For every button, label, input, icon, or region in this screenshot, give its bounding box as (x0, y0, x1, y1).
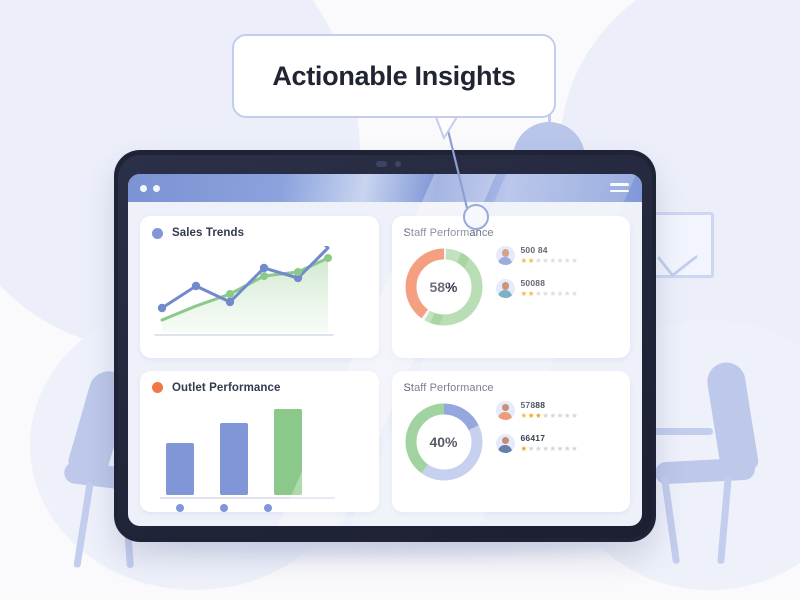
framed-picture-icon (652, 212, 714, 278)
chart-baseline (154, 334, 334, 336)
list-item[interactable]: 57888 ★★★★ ★★★★ (496, 401, 626, 420)
legend-dot-icon (152, 228, 163, 239)
avatar (496, 401, 515, 420)
bar-3 (274, 409, 302, 495)
list-item[interactable]: 66417 ★★★★ ★★★★ (496, 434, 626, 453)
rating-stars: ★★★★ ★★★★ (521, 290, 578, 298)
axis-dot-1 (176, 504, 184, 512)
legend-dot-icon (152, 382, 163, 393)
card-title: Staff Performance (404, 382, 494, 394)
avatar (496, 279, 515, 298)
card-header: Sales Trends (152, 227, 367, 239)
staff-list-top: 500 84 ★★★★ ★★★★ (496, 246, 626, 312)
card-header: Staff Performance (404, 227, 619, 239)
axis-dot-2 (220, 504, 228, 512)
card-title: Outlet Performance (172, 382, 281, 394)
avatar (496, 434, 515, 453)
callout-text: Actionable Insights (272, 61, 515, 92)
staff-list-bottom: 57888 ★★★★ ★★★★ (496, 401, 626, 467)
staff-name: 500 84 (521, 246, 578, 255)
card-staff-performance-bottom[interactable]: Staff Performance 40% (392, 371, 631, 513)
chart-baseline (160, 497, 335, 499)
staff-name: 50088 (521, 279, 578, 288)
axis-dot-3 (264, 504, 272, 512)
rating-stars: ★★★★ ★★★★ (521, 257, 578, 265)
staff-name: 57888 (521, 401, 578, 410)
callout-bubble: Actionable Insights (232, 34, 556, 118)
card-outlet-performance[interactable]: Outlet Performance (140, 371, 379, 513)
card-staff-performance-top[interactable]: Staff Performance 58% (392, 216, 631, 358)
staff-name: 66417 (521, 434, 578, 443)
camera-sensor-icon (376, 161, 387, 167)
bar-1 (166, 443, 194, 495)
callout-pointer-dot (463, 204, 489, 230)
app-bar-dot-1 (140, 185, 147, 192)
hamburger-menu-icon[interactable] (610, 183, 629, 194)
chair-right-icon (655, 360, 785, 550)
card-title: Sales Trends (172, 227, 244, 239)
avatar (496, 246, 515, 265)
bar-2 (220, 423, 248, 495)
tablet-device: Sales Trends (114, 150, 656, 542)
app-bar-dot-2 (153, 185, 160, 192)
donut-center-value: 40% (401, 399, 487, 485)
bar-chart (166, 403, 326, 495)
bar-axis-markers (166, 504, 326, 512)
list-item[interactable]: 50088 ★★★★ ★★★★ (496, 279, 626, 298)
line-chart (148, 246, 338, 336)
card-sales-trends[interactable]: Sales Trends (140, 216, 379, 358)
list-item[interactable]: 500 84 ★★★★ ★★★★ (496, 246, 626, 265)
dashboard-grid: Sales Trends (128, 202, 642, 526)
app-bar (128, 174, 642, 202)
donut-chart-bottom: 40% (401, 399, 487, 485)
tablet-screen: Sales Trends (128, 174, 642, 526)
rating-stars: ★★★★ ★★★★ (521, 445, 578, 453)
card-header: Outlet Performance (152, 382, 367, 394)
donut-center-value: 58% (401, 244, 487, 330)
donut-chart-top: 58% (401, 244, 487, 330)
illustration-scene: Actionable Insights (0, 0, 800, 600)
camera-lens-icon (395, 161, 401, 167)
rating-stars: ★★★★ ★★★★ (521, 412, 578, 420)
card-header: Staff Performance (404, 382, 619, 394)
